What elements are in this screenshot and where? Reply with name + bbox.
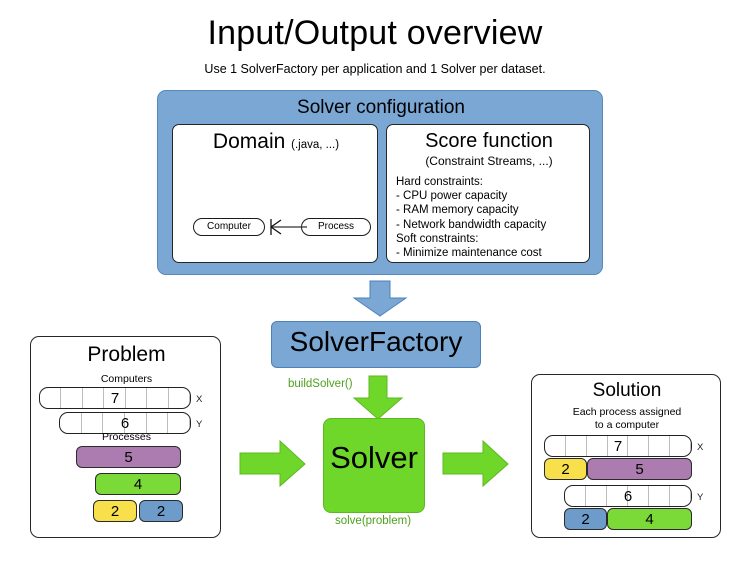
solution-assigned-process-block[interactable]: 2 <box>564 508 607 530</box>
constraint-line: - Minimize maintenance cost <box>396 246 588 260</box>
solver-box[interactable]: Solver <box>323 418 425 513</box>
problem-processes-label: Processes <box>31 431 222 443</box>
solution-assigned-process-block[interactable]: 2 <box>544 458 587 480</box>
problem-computer-x-capacity: 7 <box>40 388 190 408</box>
score-function-title: Score function <box>387 130 591 153</box>
solution-computer-y-axis-letter: Y <box>697 492 703 503</box>
entity-process[interactable]: Process <box>301 218 371 236</box>
problem-process-block[interactable]: 2 <box>139 500 183 522</box>
solution-computer-bar-x[interactable]: 7 <box>544 435 692 457</box>
solver-configuration-panel: Solver configuration Domain (.java, ...)… <box>157 90 603 275</box>
solver-configuration-title: Solver configuration <box>158 97 604 119</box>
domain-title-main: Domain <box>213 130 285 153</box>
problem-process-block[interactable]: 2 <box>93 500 137 522</box>
solver-factory-box[interactable]: SolverFactory <box>271 321 481 368</box>
problem-title: Problem <box>31 343 222 367</box>
solution-caption-line: to a computer <box>532 419 722 432</box>
problem-computer-y-capacity: 6 <box>60 413 190 433</box>
score-function-constraint-list: Hard constraints: - CPU power capacity -… <box>396 175 588 260</box>
domain-title: Domain (.java, ...) <box>173 130 379 154</box>
down-arrow-icon-build-solver <box>352 376 404 420</box>
problem-computer-y-axis-letter: Y <box>196 419 202 430</box>
right-arrow-icon-solver-to-solution <box>443 440 510 488</box>
score-function-subtitle: (Constraint Streams, ...) <box>387 154 591 168</box>
constraint-line: - Network bandwidth capacity <box>396 218 588 232</box>
solution-computer-bar-y[interactable]: 6 <box>564 485 692 507</box>
domain-title-suffix: (.java, ...) <box>291 139 339 151</box>
problem-process-block[interactable]: 4 <box>95 473 181 495</box>
page-subtitle: Use 1 SolverFactory per application and … <box>0 62 750 76</box>
down-arrow-icon-config-to-factory <box>352 281 408 317</box>
constraint-line: Hard constraints: <box>396 175 588 189</box>
problem-process-block[interactable]: 5 <box>76 446 181 468</box>
solver-factory-label: SolverFactory <box>272 326 480 358</box>
solution-card: Solution Each process assigned to a comp… <box>531 374 721 538</box>
solve-problem-label: solve(problem) <box>323 515 423 527</box>
entity-computer[interactable]: Computer <box>193 218 265 236</box>
solution-assigned-process-block[interactable]: 5 <box>587 458 692 480</box>
solution-computer-x-capacity: 7 <box>545 436 691 456</box>
problem-computer-bar-x[interactable]: 7 <box>39 387 191 409</box>
solution-computer-x-axis-letter: X <box>697 442 703 453</box>
problem-card: Problem Computers 7 X 6 Y Processes 5 4 … <box>30 336 221 538</box>
solution-title: Solution <box>532 380 722 402</box>
build-solver-label: buildSolver() <box>288 378 353 390</box>
constraint-line: Soft constraints: <box>396 232 588 246</box>
problem-computers-label: Computers <box>31 373 222 385</box>
solver-label: Solver <box>324 440 424 476</box>
constraint-line: - RAM memory capacity <box>396 203 588 217</box>
solution-assigned-process-block[interactable]: 4 <box>607 508 692 530</box>
solution-caption-line: Each process assigned <box>532 406 722 419</box>
right-arrow-icon-problem-to-solver <box>240 440 307 488</box>
constraint-line: - CPU power capacity <box>396 189 588 203</box>
problem-computer-x-axis-letter: X <box>196 394 202 405</box>
domain-card: Domain (.java, ...) Computer Process <box>172 124 378 263</box>
crows-foot-arrow-icon <box>259 213 309 241</box>
solution-computer-y-capacity: 6 <box>565 486 691 506</box>
score-function-card: Score function (Constraint Streams, ...)… <box>386 124 590 263</box>
page-title: Input/Output overview <box>0 14 750 53</box>
solution-caption: Each process assigned to a computer <box>532 406 722 432</box>
